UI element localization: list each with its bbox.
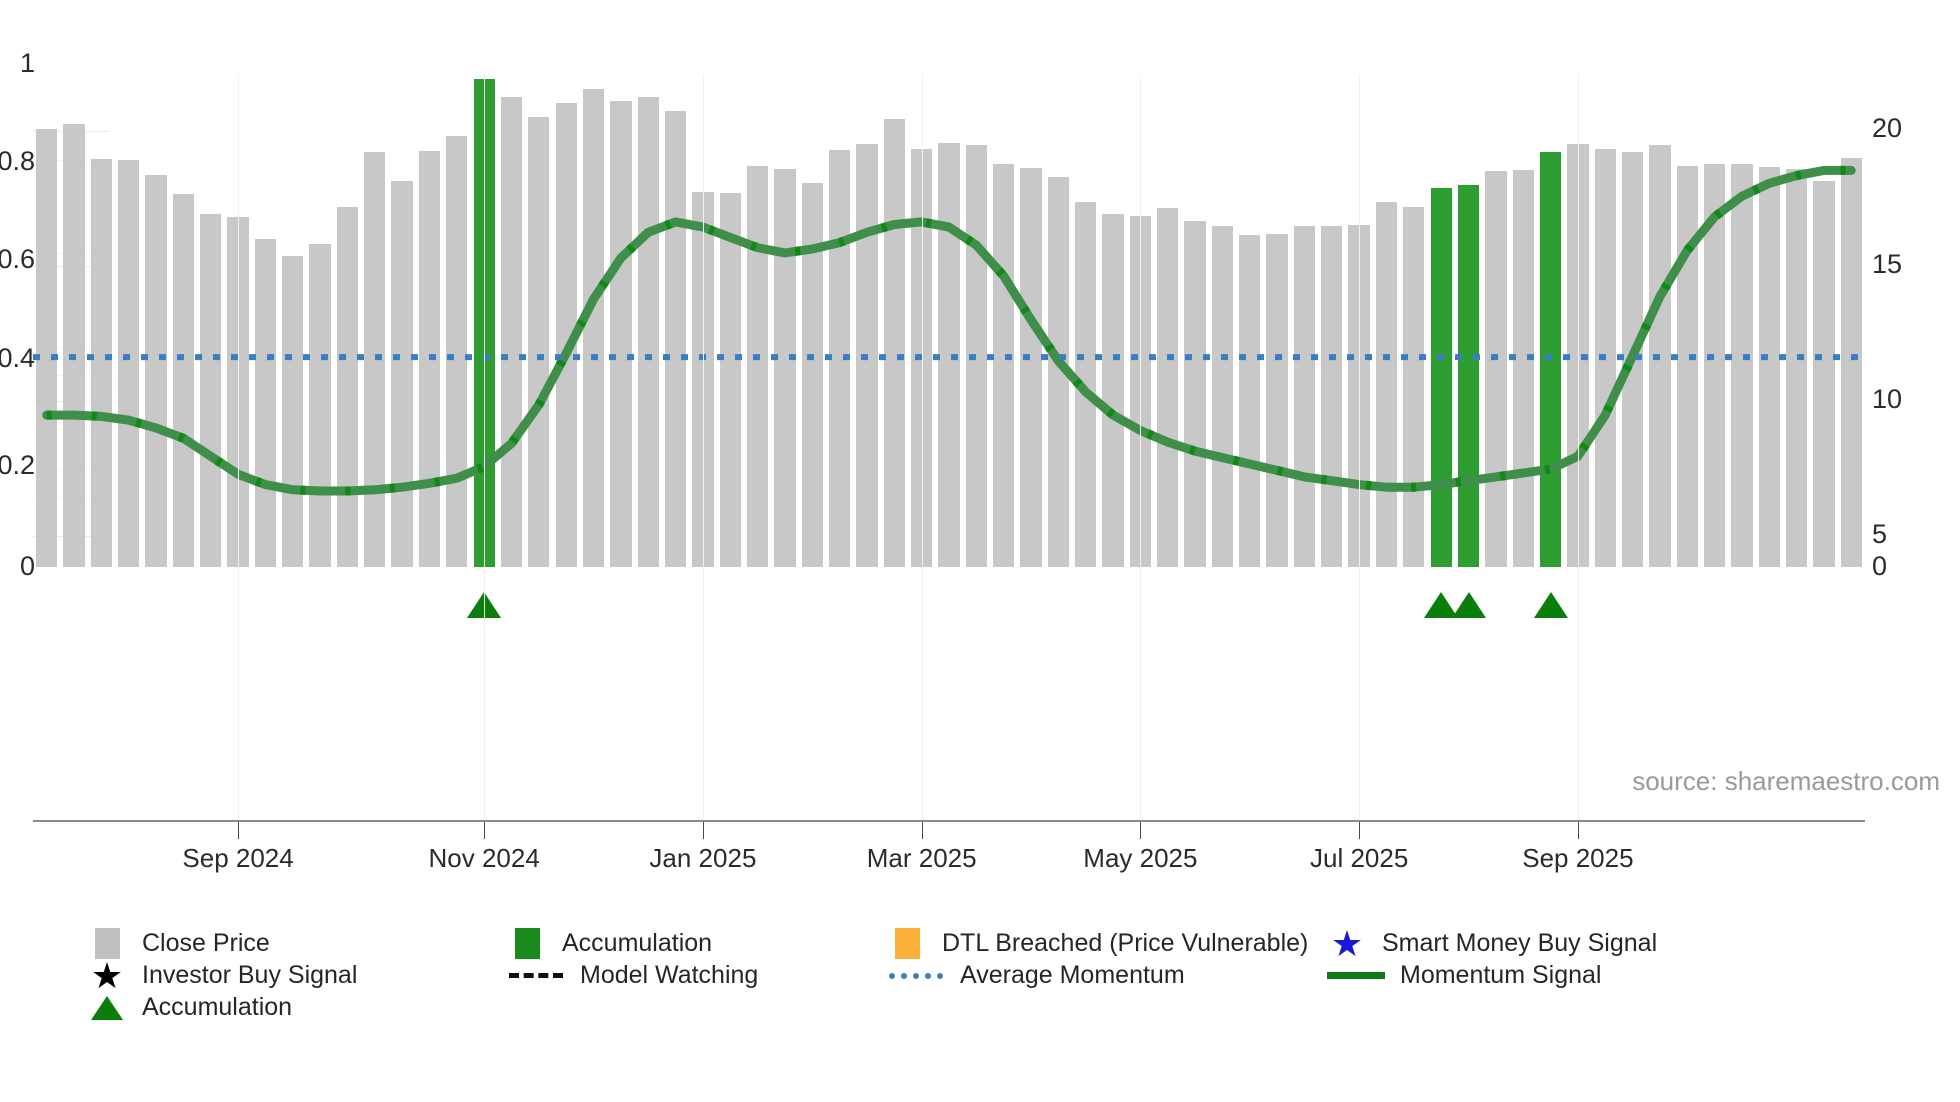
vertical-gridline (1578, 75, 1579, 820)
x-tick-mark (922, 822, 923, 839)
x-tick-label: Mar 2025 (867, 843, 977, 874)
legend-label-accumulation-bar: Accumulation (562, 929, 712, 958)
x-tick-label: May 2025 (1083, 843, 1197, 874)
legend-row-2: ★ Investor Buy Signal Model Watching Ave… (86, 960, 1936, 991)
lines-overlay (33, 52, 1865, 567)
y-left-tick-0.4: 0.4 (0, 343, 35, 374)
x-tick-mark (484, 822, 485, 839)
vertical-gridline (703, 75, 704, 820)
legend-item-close-price[interactable]: Close Price (86, 928, 506, 959)
marker-row (33, 575, 1865, 820)
legend-item-average-momentum[interactable]: Average Momentum (886, 960, 1326, 991)
vertical-gridline (1359, 75, 1360, 820)
y-left-tick-0.2: 0.2 (0, 450, 35, 481)
legend-label-average-momentum: Average Momentum (960, 961, 1185, 990)
legend-row-3: Accumulation (86, 992, 1936, 1023)
y-left-tick-0.6: 0.6 (0, 244, 35, 275)
x-axis-line (33, 820, 1865, 822)
x-tick-label: Jan 2025 (649, 843, 756, 874)
y-right-tick-10: 10 (1872, 384, 1902, 415)
y-right-tick-0: 0 (1872, 551, 1887, 582)
legend-item-model-watching[interactable]: Model Watching (506, 960, 886, 991)
legend-item-accumulation-marker[interactable]: Accumulation (86, 992, 506, 1023)
legend-item-investor-buy[interactable]: ★ Investor Buy Signal (86, 960, 506, 991)
solid-line-icon (1326, 972, 1386, 979)
star-black-icon: ★ (86, 962, 128, 990)
vertical-gridline (1140, 75, 1141, 820)
y-left-tick-0.8: 0.8 (0, 146, 35, 177)
accumulation-triangle-marker[interactable] (1452, 592, 1486, 618)
accumulation-triangle-marker[interactable] (1534, 592, 1568, 618)
legend-item-accumulation-bar[interactable]: Accumulation (506, 928, 886, 959)
source-attribution: source: sharemaestro.com (1632, 766, 1940, 797)
vertical-gridline (238, 75, 239, 820)
x-tick-mark (1140, 822, 1141, 839)
vertical-gridline (922, 75, 923, 820)
x-tick-label: Jul 2025 (1310, 843, 1408, 874)
y-right-tick-15: 15 (1872, 249, 1902, 280)
vertical-gridline (484, 75, 485, 820)
square-green-icon (506, 928, 548, 959)
x-tick-mark (1578, 822, 1579, 839)
legend-item-momentum-signal[interactable]: Momentum Signal (1326, 960, 1601, 991)
legend-row-1: Close Price Accumulation DTL Breached (P… (86, 928, 1936, 959)
legend-label-momentum-signal: Momentum Signal (1400, 961, 1601, 990)
legend-label-close-price: Close Price (142, 929, 270, 958)
x-tick-label: Sep 2024 (182, 843, 293, 874)
square-orange-icon (886, 928, 928, 959)
dashed-line-icon (506, 973, 566, 978)
x-tick-mark (703, 822, 704, 839)
momentum-signal-dashes (47, 170, 1852, 491)
star-blue-icon: ★ (1326, 930, 1368, 958)
y-right-tick-5: 5 (1872, 519, 1887, 550)
momentum-signal-line (47, 170, 1852, 491)
legend-item-smart-money-buy[interactable]: ★ Smart Money Buy Signal (1326, 928, 1657, 959)
legend-label-smart-money-buy: Smart Money Buy Signal (1382, 929, 1657, 958)
chart-legend: Close Price Accumulation DTL Breached (P… (86, 928, 1936, 1023)
triangle-green-icon (86, 996, 128, 1020)
x-tick-label: Sep 2025 (1522, 843, 1633, 874)
legend-label-accumulation-marker: Accumulation (142, 993, 292, 1022)
chart-canvas: 1 0.8 0.6 0.4 0.2 0 20 15 10 5 0 Sep 202… (0, 0, 1960, 1102)
legend-label-model-watching: Model Watching (580, 961, 758, 990)
x-tick-label: Nov 2024 (429, 843, 540, 874)
dotted-line-icon (886, 973, 946, 979)
legend-label-investor-buy: Investor Buy Signal (142, 961, 357, 990)
x-tick-mark (1359, 822, 1360, 839)
y-right-tick-20: 20 (1872, 113, 1902, 144)
x-tick-mark (238, 822, 239, 839)
legend-label-dtl-breached: DTL Breached (Price Vulnerable) (942, 929, 1308, 958)
legend-item-dtl-breached[interactable]: DTL Breached (Price Vulnerable) (886, 928, 1326, 959)
